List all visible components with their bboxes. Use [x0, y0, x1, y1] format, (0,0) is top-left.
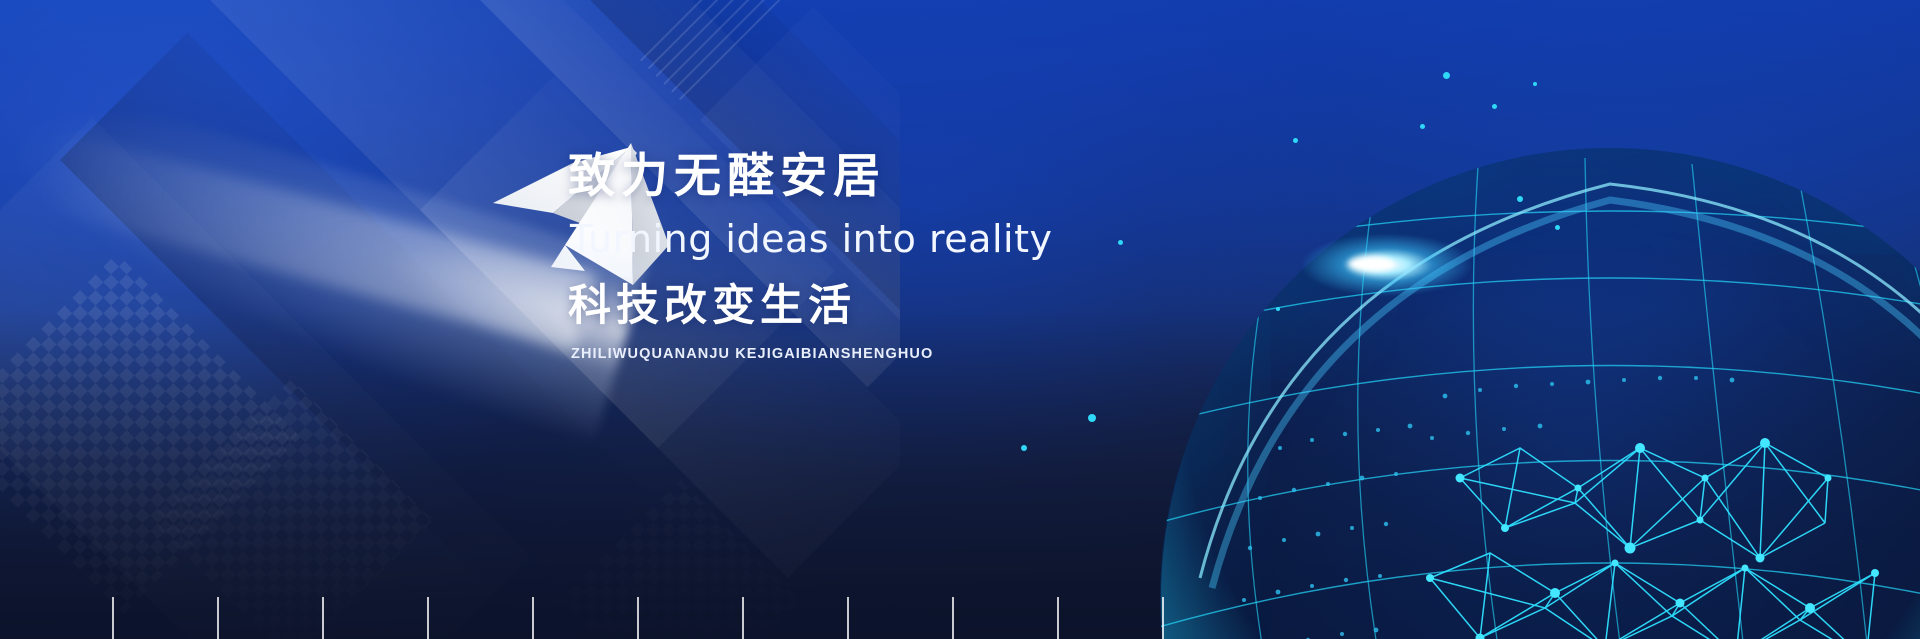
- tick-mark: [217, 597, 219, 639]
- floating-dot: [1276, 307, 1280, 311]
- lens-flare-core-icon: [1348, 256, 1394, 272]
- tick-mark: [637, 597, 639, 639]
- floating-dot: [1517, 196, 1523, 202]
- floating-dot: [1118, 240, 1123, 245]
- tick-mark: [952, 597, 954, 639]
- floating-dot: [1533, 82, 1537, 86]
- tick-mark: [847, 597, 849, 639]
- tick-mark: [322, 597, 324, 639]
- floating-dot: [1293, 138, 1298, 143]
- tick-mark: [112, 597, 114, 639]
- globe-wireframe-svg: [1160, 148, 1920, 639]
- tick-mark: [1162, 597, 1164, 639]
- bottom-tick-marks: [0, 595, 1920, 639]
- tick-mark: [1057, 597, 1059, 639]
- floating-dot: [1443, 72, 1450, 79]
- floating-dot: [1492, 104, 1497, 109]
- floating-dot: [1021, 445, 1027, 451]
- wireframe-globe-icon: [1160, 148, 1920, 639]
- hero-banner: 致力无醛安居 Turning ideas into reality 科技改变生活…: [0, 0, 1920, 639]
- floating-dot: [1555, 225, 1560, 230]
- tick-mark: [532, 597, 534, 639]
- floating-dot: [1088, 414, 1096, 422]
- tick-mark: [427, 597, 429, 639]
- floating-dot: [1420, 124, 1425, 129]
- tick-mark: [742, 597, 744, 639]
